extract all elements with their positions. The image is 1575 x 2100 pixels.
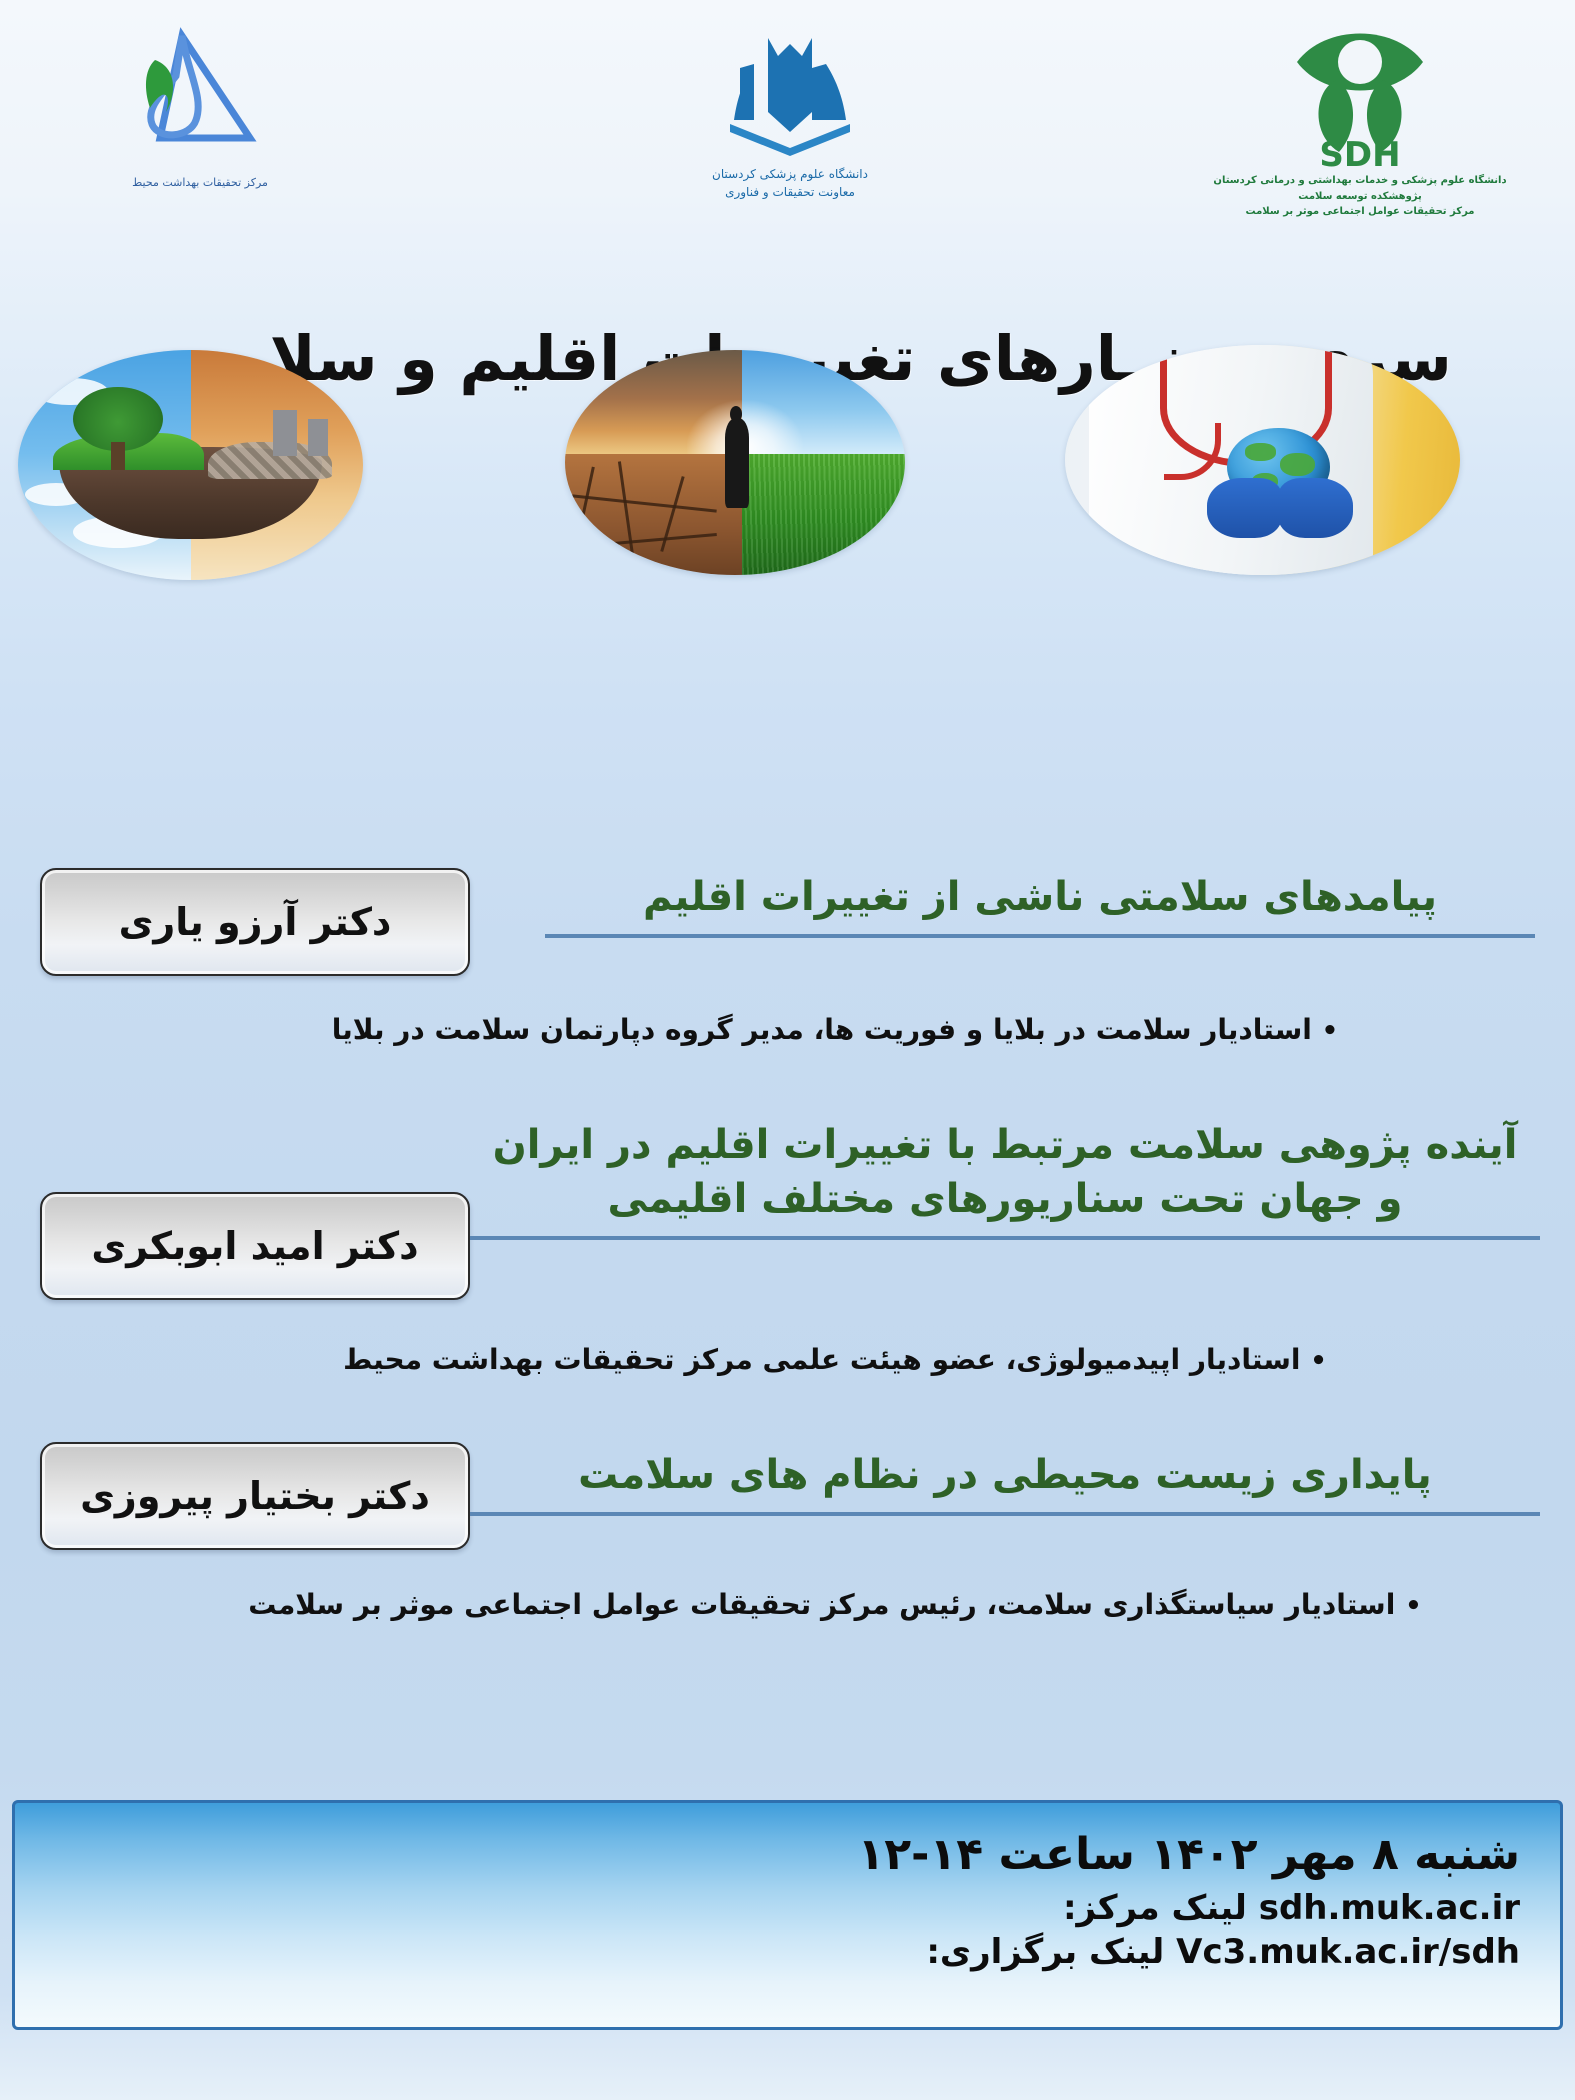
talk-block: پایداری زیست محیطی در نظام های سلامت [470, 1448, 1540, 1516]
env-health-triangle-drop-icon [100, 20, 300, 170]
speaker-bio-text: استادیار اپیدمیولوژی، عضو هیئت علمی مرکز… [343, 1343, 1300, 1376]
speaker-bio-row: • استادیار سلامت در بلایا و فوریت ها، مد… [130, 1013, 1540, 1046]
env-logo-caption-line-1: مرکز تحقیقات بهداشت محیط [40, 176, 360, 191]
bio-bullet-icon: • [1310, 1346, 1327, 1376]
center-link-value[interactable]: sdh.muk.ac.ir [1259, 1886, 1520, 1930]
talk-block: پیامدهای سلامتی ناشی از تغییرات اقلیم [545, 870, 1535, 938]
speaker-name-plate[interactable]: دکتر آرزو یاری [40, 868, 470, 976]
speaker-name-plate[interactable]: دکتر امید ابوبکری [40, 1192, 470, 1300]
sessions-list: دکتر آرزو یاری پیامدهای سلامتی ناشی از ت… [0, 790, 1575, 1670]
talk-title: پایداری زیست محیطی در نظام های سلامت [470, 1448, 1540, 1502]
climate-contrast-floating-island-photo [18, 350, 363, 580]
photo-strip [0, 405, 1575, 635]
environmental-health-research-center-logo: مرکز تحقیقات بهداشت محیط [40, 20, 360, 191]
talk-title-line: و جهان تحت سناریورهای مختلف اقلیمی [470, 1172, 1540, 1226]
talk-title-line: پیامدهای سلامتی ناشی از تغییرات اقلیم [545, 870, 1535, 924]
kums-logo-caption-line-2: معاونت تحقیقات و فناوری [620, 184, 960, 200]
kurdistan-university-logo: دانشگاه علوم پزشکی کردستان معاونت تحقیقا… [620, 20, 960, 200]
talk-title: آینده پژوهی سلامت مرتبط با تغییرات اقلیم… [470, 1118, 1540, 1226]
talk-divider [470, 1236, 1540, 1240]
event-link-value[interactable]: Vc3.muk.ac.ir/sdh [1176, 1930, 1520, 1974]
bio-bullet-icon: • [1322, 1016, 1339, 1046]
header-logos: مرکز تحقیقات بهداشت محیط دانشگاه علوم پز… [0, 0, 1575, 250]
talk-divider [545, 934, 1535, 938]
event-date-time: شنبه ۸ مهر ۱۴۰۲ ساعت ۱۴-۱۲ [55, 1829, 1520, 1880]
talk-title-line: پایداری زیست محیطی در نظام های سلامت [470, 1448, 1540, 1502]
event-link-row[interactable]: Vc3.muk.ac.ir/sdh لینک برگزاری: [55, 1930, 1520, 1974]
open-book-crest-icon [710, 20, 870, 160]
talk-block: آینده پژوهی سلامت مرتبط با تغییرات اقلیم… [470, 1118, 1540, 1240]
center-link-label: لینک مرکز: [1063, 1888, 1247, 1928]
session-item: دکتر آرزو یاری پیامدهای سلامتی ناشی از ت… [0, 790, 1575, 1080]
speaker-bio-text: استادیار سلامت در بلایا و فوریت ها، مدیر… [332, 1013, 1312, 1046]
speaker-name-plate[interactable]: دکتر بختیار پیروزی [40, 1442, 470, 1550]
talk-divider [470, 1512, 1540, 1516]
talk-title-line: آینده پژوهی سلامت مرتبط با تغییرات اقلیم… [470, 1118, 1540, 1172]
event-link-label: لینک برگزاری: [926, 1932, 1164, 1972]
drought-and-green-field-silhouette-photo [565, 350, 905, 575]
sdh-logo-caption-line-3: مرکز تحقیقات عوامل اجتماعی موثر بر سلامت [1180, 205, 1540, 219]
speaker-bio-row: • استادیار سیاستگذاری سلامت، رئیس مرکز ت… [130, 1588, 1540, 1621]
session-item: دکتر امید ابوبکری آینده پژوهی سلامت مرتب… [0, 1080, 1575, 1390]
doctor-holding-globe-photo [1065, 345, 1460, 575]
speaker-bio-row: • استادیار اپیدمیولوژی، عضو هیئت علمی مر… [130, 1343, 1540, 1376]
sdh-acronym-text: SDH [1319, 135, 1400, 168]
bio-bullet-icon: • [1405, 1591, 1422, 1621]
speaker-bio-text: استادیار سیاستگذاری سلامت، رئیس مرکز تحق… [248, 1588, 1395, 1621]
webinar-poster: مرکز تحقیقات بهداشت محیط دانشگاه علوم پز… [0, 0, 1575, 2100]
talk-title: پیامدهای سلامتی ناشی از تغییرات اقلیم [545, 870, 1535, 924]
kums-logo-caption-line-1: دانشگاه علوم پزشکی کردستان [620, 166, 960, 182]
footer-info-panel: شنبه ۸ مهر ۱۴۰۲ ساعت ۱۴-۱۲ sdh.muk.ac.ir… [12, 1800, 1563, 2030]
sdh-logo-caption-line-2: پژوهشکده توسعه سلامت [1180, 190, 1540, 204]
center-link-row[interactable]: sdh.muk.ac.ir لینک مرکز: [55, 1886, 1520, 1930]
sdh-logo: SDH دانشگاه علوم پزشکی و خدمات بهداشتی و… [1180, 18, 1540, 219]
session-item: دکتر بختیار پیروزی پایداری زیست محیطی در… [0, 1390, 1575, 1670]
sdh-logo-caption-line-1: دانشگاه علوم پزشکی و خدمات بهداشتی و درم… [1180, 174, 1540, 188]
sdh-person-leaf-icon: SDH [1275, 18, 1445, 168]
